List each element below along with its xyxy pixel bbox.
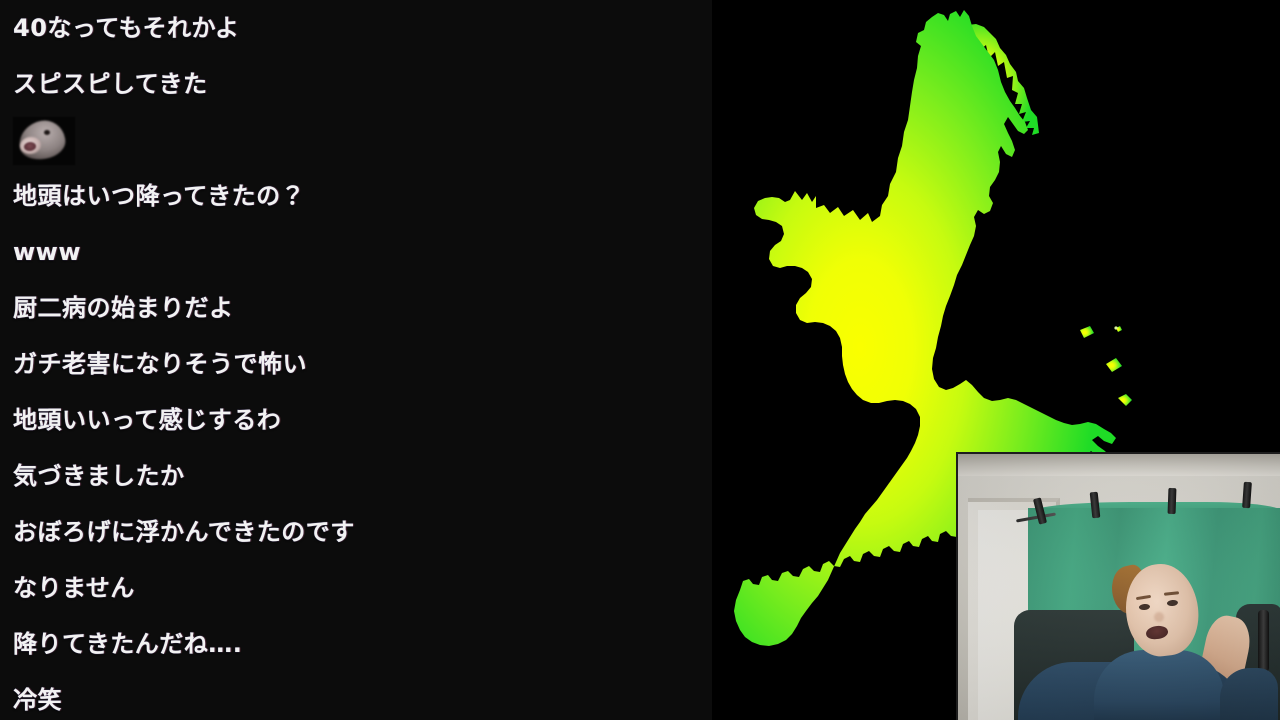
- chat-message: 地頭はいつ降ってきたの？: [0, 168, 712, 224]
- webcam-ceiling: [958, 454, 1280, 476]
- chat-message-text: ガチ老害になりそうで怖い: [13, 350, 307, 378]
- chat-message: 冷笑: [0, 672, 712, 720]
- chat-message: 40なってもそれかよ: [0, 0, 712, 56]
- chat-message-text: おぼろげに浮かんできたのです: [13, 518, 355, 546]
- chat-message: ガチ老害になりそうで怖い: [0, 336, 712, 392]
- chat-message: 地頭いいって感じするわ: [0, 392, 712, 448]
- chat-message: スピスピしてきた: [0, 56, 712, 112]
- chat-panel[interactable]: 40なってもそれかよスピスピしてきた地頭はいつ降ってきたの？www厨二病の始まり…: [0, 0, 712, 720]
- webcam-person-sleeve: [1220, 668, 1278, 720]
- chat-message-text: 地頭いいって感じするわ: [13, 406, 281, 434]
- animal-face-emote: [13, 117, 75, 165]
- webcam-person-nose: [1154, 612, 1164, 622]
- stream-screen: 40なってもそれかよスピスピしてきた地頭はいつ降ってきたの？www厨二病の始まり…: [0, 0, 1280, 720]
- chat-message: 気づきましたか: [0, 448, 712, 504]
- chat-message-text: スピスピしてきた: [13, 70, 208, 98]
- chat-message: おぼろげに浮かんできたのです: [0, 504, 712, 560]
- chat-message-list: 40なってもそれかよスピスピしてきた地頭はいつ降ってきたの？www厨二病の始まり…: [0, 0, 712, 720]
- webcam-person-jacket: [1094, 650, 1224, 720]
- chat-message-text: 気づきましたか: [13, 462, 185, 490]
- webcam-clamp: [1168, 488, 1177, 514]
- chat-message-text: 地頭はいつ降ってきたの？: [13, 182, 305, 210]
- chat-message: なりません: [0, 560, 712, 616]
- chat-message-text: 厨二病の始まりだよ: [13, 294, 234, 322]
- chat-message-text: なりません: [13, 574, 135, 602]
- chat-message-text: 40なってもそれかよ: [13, 14, 239, 42]
- webcam-light-stand: [1258, 610, 1269, 672]
- chat-message: 厨二病の始まりだよ: [0, 280, 712, 336]
- chat-message: www: [0, 224, 712, 280]
- chat-message: 降りてきたんだね….: [0, 616, 712, 672]
- chat-message-text: 冷笑: [13, 686, 62, 714]
- chat-message-text: 降りてきたんだね….: [13, 630, 242, 658]
- chat-message-text: www: [13, 238, 81, 266]
- chat-message: [0, 112, 712, 168]
- streamer-webcam[interactable]: [956, 452, 1280, 720]
